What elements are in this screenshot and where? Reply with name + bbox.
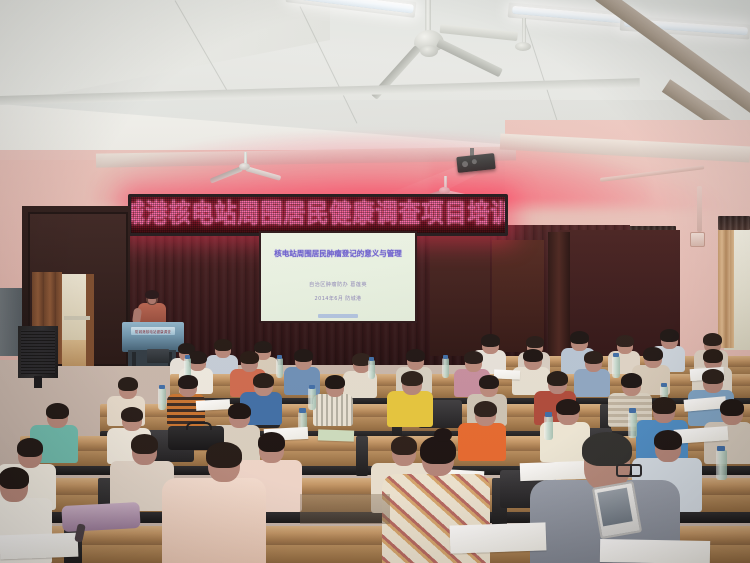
attendee-hair <box>584 351 603 364</box>
attendee-hair <box>616 335 634 347</box>
attendee-hair <box>254 341 272 353</box>
ceiling-fan-hub <box>239 163 250 170</box>
ceiling-fan-rod <box>425 0 431 32</box>
attendee-hair <box>17 438 43 457</box>
attendee-torso <box>574 369 610 397</box>
bottle-cap <box>443 355 448 359</box>
water-bottle <box>716 450 727 480</box>
attendee-hair <box>643 347 663 361</box>
corridor-rail <box>64 316 90 320</box>
bottle-cap <box>613 353 619 357</box>
attendee-torso <box>162 478 266 563</box>
document-paper <box>196 399 230 411</box>
attendee-torso <box>458 423 506 461</box>
attendee-hair <box>660 329 679 342</box>
projection-screen: 核电站周围居民肿瘤登记的意义与管理 自治区肿瘤防办 葛莲英 2014年6月 防城… <box>261 233 415 321</box>
led-banner-text: 防城港核电站周围居民健康调查项目培训班 <box>128 202 508 227</box>
projector-lens-icon <box>472 159 477 164</box>
attendee-hair <box>547 371 568 386</box>
water-bottle <box>612 356 620 378</box>
presenter-hair <box>145 290 159 299</box>
water-bottle <box>276 358 283 378</box>
attendee-hair <box>253 373 274 388</box>
projection-screen-frame: 核电站周围居民肿瘤登记的意义与管理 自治区肿瘤防办 葛莲英 2014年6月 防城… <box>259 231 417 323</box>
attendee-hair <box>294 349 313 362</box>
document-paper <box>450 522 547 553</box>
water-bottle <box>368 360 375 379</box>
bottle-cap <box>369 357 374 361</box>
attendee-hair <box>118 377 138 391</box>
attendee-hair <box>556 399 580 415</box>
stage-column <box>548 232 570 356</box>
document-paper <box>0 533 78 560</box>
window-curtain[interactable] <box>718 230 734 348</box>
attendee-hair <box>391 436 417 455</box>
water-bottle <box>544 416 553 440</box>
door-post <box>86 274 94 366</box>
hair-bun <box>434 428 452 442</box>
water-bottle <box>158 388 166 410</box>
attendee-hair <box>121 407 143 422</box>
ceiling-fan-rod <box>522 18 526 44</box>
loudspeaker-stand <box>34 376 42 388</box>
bottle-cap <box>277 355 282 359</box>
attendee-hair <box>46 403 69 419</box>
water-bottle <box>308 388 316 410</box>
document-paper <box>520 461 589 481</box>
attendee-hair <box>131 434 158 454</box>
attendee-hair <box>703 349 723 363</box>
attendee-hair <box>0 467 29 489</box>
bottle-cap <box>309 385 315 389</box>
slide-title: 核电站周围居民肿瘤登记的意义与管理 <box>267 249 409 259</box>
attendee-hair <box>479 375 499 389</box>
attendee-hair <box>621 373 642 388</box>
wall-socket[interactable] <box>690 232 705 247</box>
attendee-hair <box>228 403 251 419</box>
ceiling-fan-hub <box>515 42 531 51</box>
eyeglasses-icon <box>616 464 642 477</box>
attendee-hair <box>582 432 632 466</box>
attendee-hair <box>702 369 724 384</box>
podium-sign-text: 防城港核电站健康调查 <box>135 329 171 334</box>
attendee-hair <box>401 371 423 386</box>
attendee-hair <box>654 430 682 450</box>
attendee-hair <box>214 339 232 351</box>
bottle-cap <box>629 408 636 413</box>
handbag <box>61 502 140 532</box>
attendee-hair <box>474 401 497 417</box>
ceiling-fan-hub <box>420 45 438 57</box>
led-banner: 防城港核电站周围居民健康调查项目培训班 <box>128 194 508 236</box>
slide-date: 2014年6月 防城港 <box>267 295 409 302</box>
attendee-hair <box>325 375 345 389</box>
podium-sign: 防城港核电站健康调查 <box>131 327 175 335</box>
bottle-cap <box>185 355 190 359</box>
bottle-cap <box>159 385 165 389</box>
desk-bracket <box>356 436 368 476</box>
attendee-hair <box>240 351 259 364</box>
bottle-cap <box>299 408 306 413</box>
attendee-hair <box>570 331 589 344</box>
document-paper <box>600 539 710 563</box>
bag-handle <box>186 422 212 430</box>
attendee-hair <box>703 333 722 346</box>
attendee-hair <box>523 349 543 362</box>
attendee-hair <box>406 349 425 362</box>
front-monitor <box>147 349 169 363</box>
attendee-torso <box>387 391 433 427</box>
attendee-hair <box>464 351 483 364</box>
bottle-cap <box>661 383 667 387</box>
attendee-hair <box>206 442 242 468</box>
slide-footer-bar <box>318 314 358 318</box>
window-valance <box>718 216 750 230</box>
attendee-hair <box>258 432 285 452</box>
bottle-cap <box>545 412 552 417</box>
water-bottle <box>442 358 449 378</box>
wall-conduit <box>697 186 702 232</box>
podium-leg <box>132 352 136 366</box>
projector-lens-icon <box>462 161 469 168</box>
attendee-hair <box>178 375 198 389</box>
attendee-hair <box>481 334 500 347</box>
lecture-hall-photo: 防城港核电站周围居民健康调查项目培训班 核电站周围居民肿瘤登记的意义与管理 自治… <box>0 0 750 563</box>
slide-author: 自治区肿瘤防办 葛莲英 <box>267 281 409 288</box>
tablet-screen <box>597 488 632 527</box>
bottle-cap <box>717 446 725 451</box>
loudspeaker-grille <box>21 330 55 374</box>
attendee-hair <box>526 336 544 348</box>
notebook-paper <box>318 429 354 441</box>
attendee-hair <box>652 397 676 414</box>
aisle-floor <box>300 494 390 524</box>
attendee-torso <box>313 394 353 426</box>
attendee-hair <box>720 399 744 416</box>
water-bottle <box>628 412 637 438</box>
